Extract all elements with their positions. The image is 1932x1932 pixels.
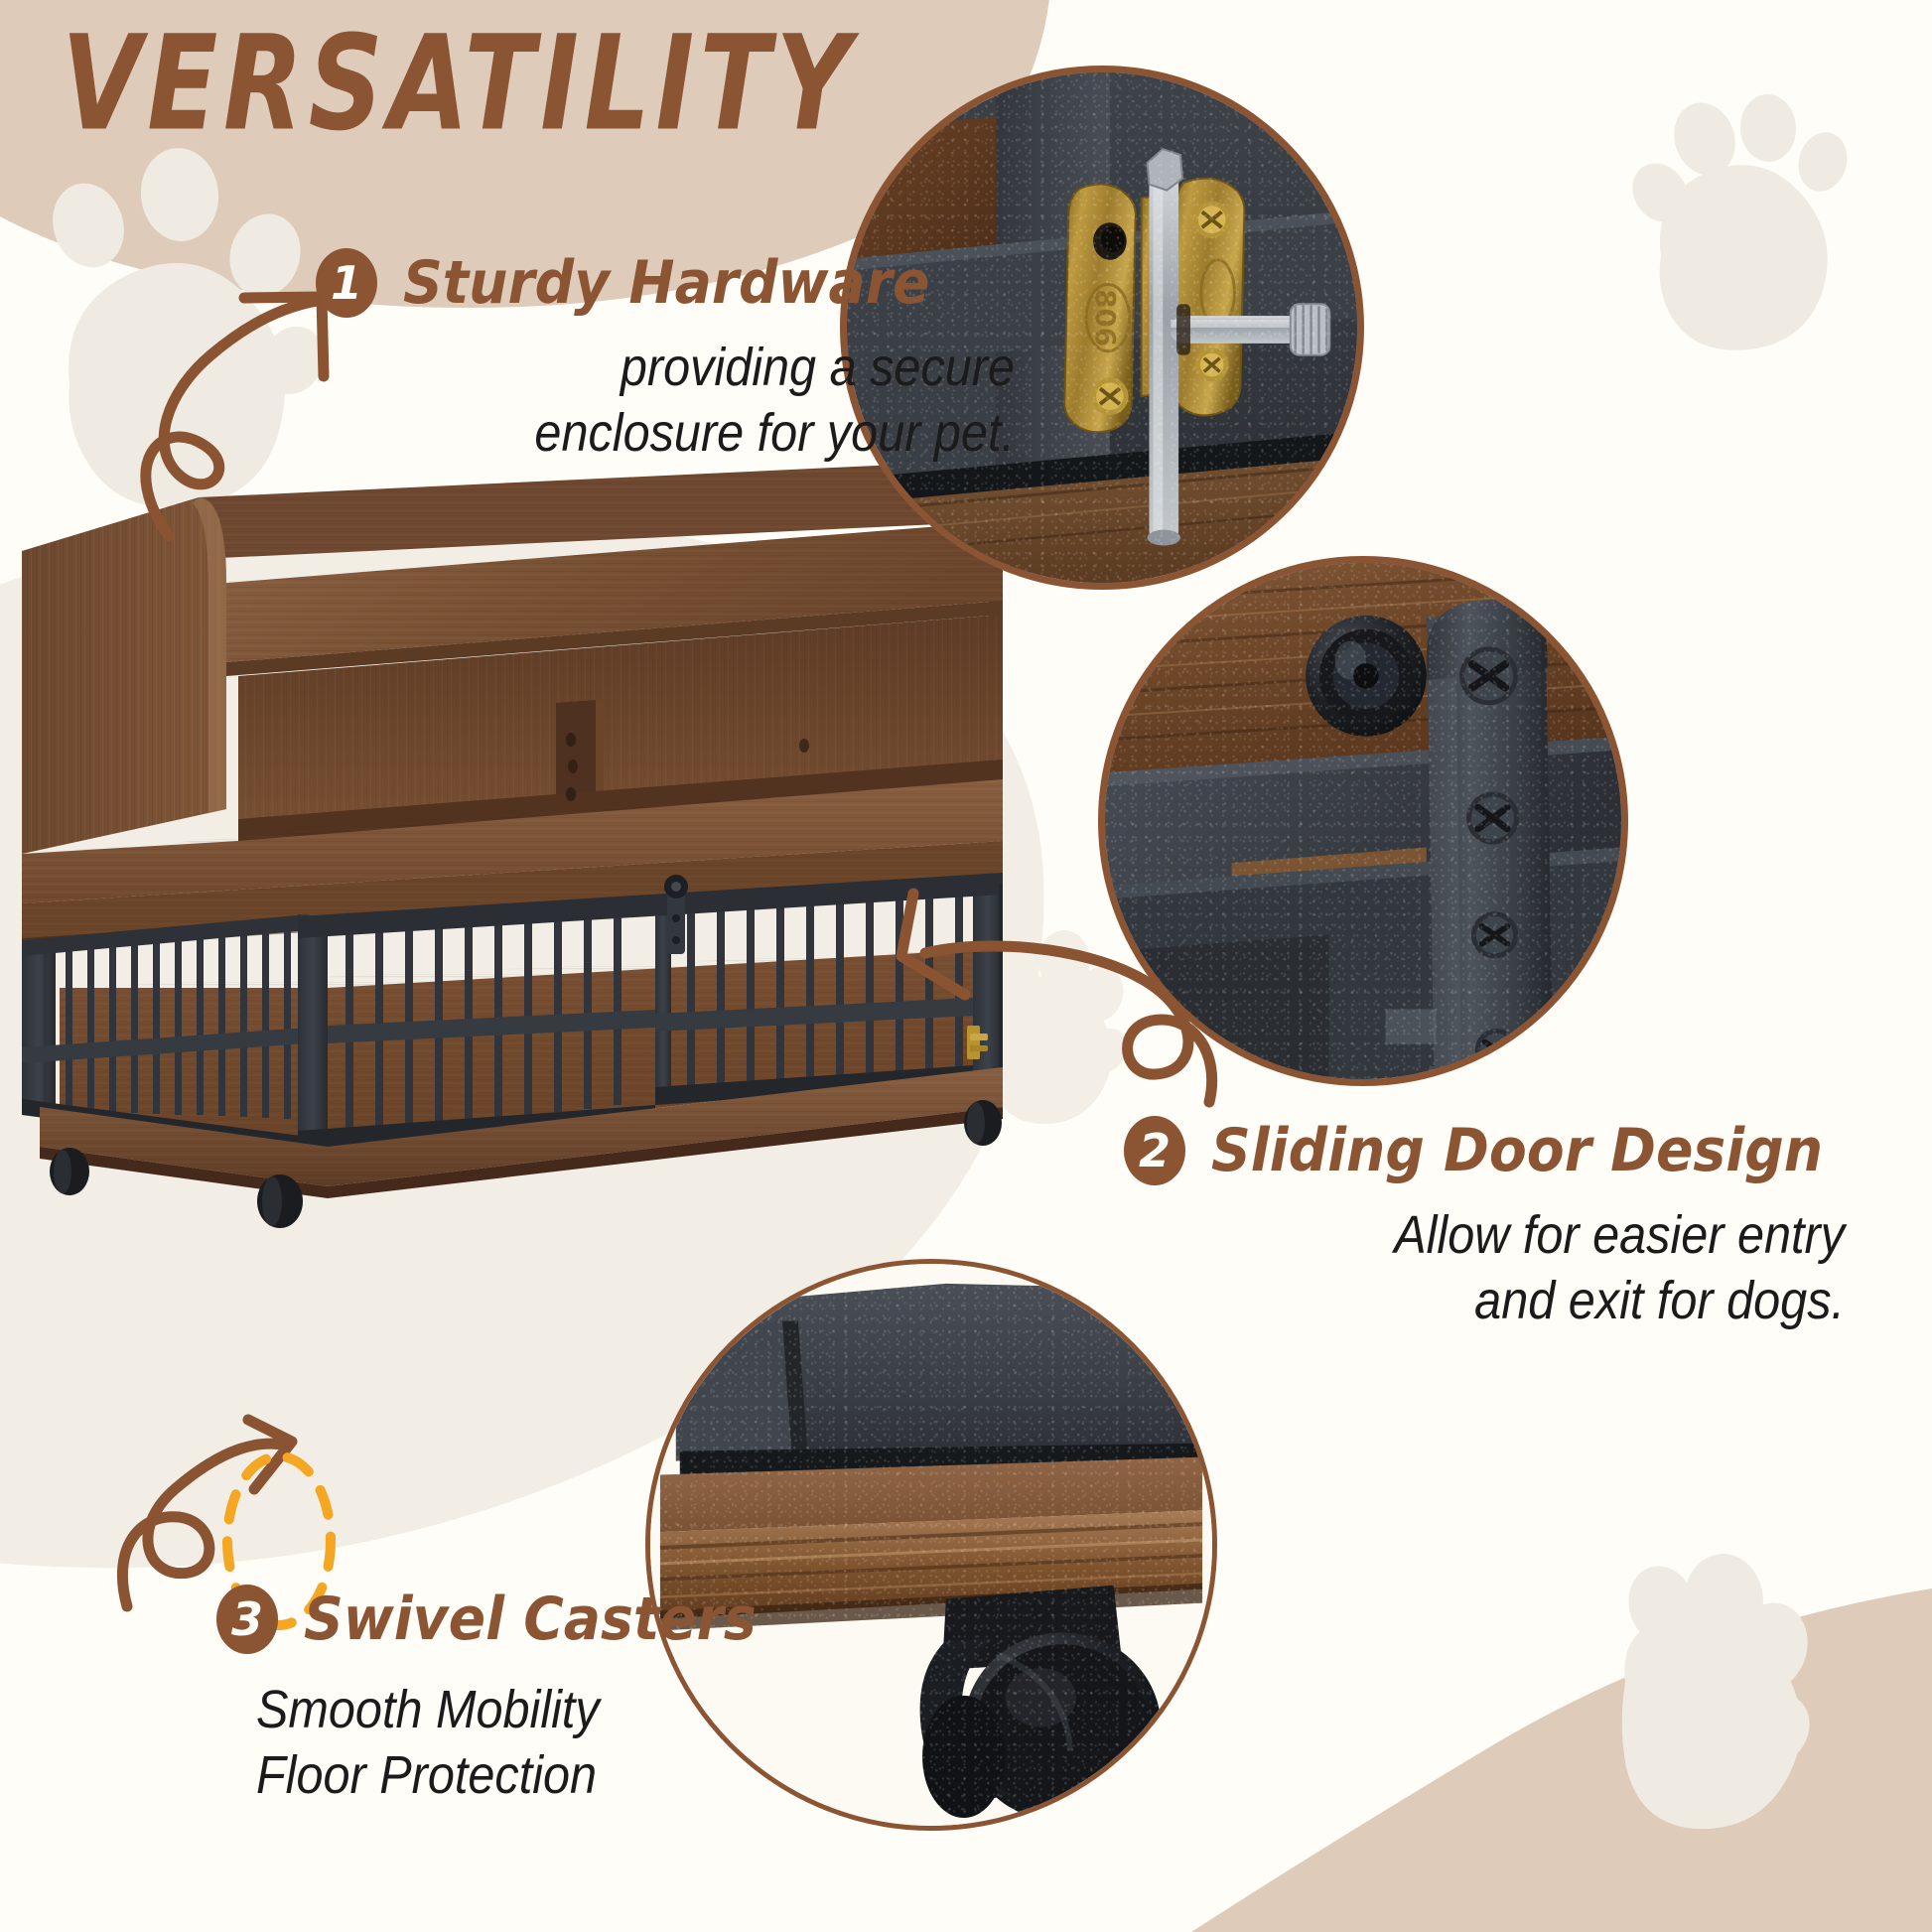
feature-3-number-badge: 3 [216, 1585, 278, 1654]
page-title: VERSATILITY [62, 8, 856, 160]
feature-block-2: 2 Sliding Door Design Allow for easier e… [1124, 1116, 1876, 1334]
feature-1-body: providing a secure enclosure for your pe… [371, 336, 1015, 467]
detail-photo-sliding-door [1098, 556, 1628, 1086]
callout-arrow-icon [146, 297, 324, 536]
feature-2-body-line-2: and exit for dogs. [1183, 1269, 1845, 1334]
feature-1-heading: 1 Sturdy Hardware [316, 248, 1015, 318]
infographic-canvas: 806 [0, 0, 1932, 1932]
feature-1-body-line-2: enclosure for your pet. [371, 401, 1015, 467]
feature-1-title: Sturdy Hardware [403, 248, 929, 318]
feature-1-body-line-1: providing a secure [371, 336, 1015, 401]
feature-block-1: 1 Sturdy Hardware providing a secure enc… [316, 248, 1015, 467]
callout-arrow-icon [122, 1420, 292, 1606]
svg-text:806: 806 [1089, 289, 1122, 346]
feature-2-body-line-1: Allow for easier entry [1183, 1203, 1845, 1269]
feature-block-3: 3 Swivel Casters Smooth Mobility Floor P… [216, 1585, 872, 1809]
feature-3-body-line-1: Smooth Mobility [256, 1678, 810, 1743]
feature-2-title: Sliding Door Design [1211, 1116, 1823, 1185]
feature-1-number-badge: 1 [316, 248, 377, 318]
feature-3-body-line-2: Floor Protection [256, 1743, 810, 1809]
feature-3-title: Swivel Casters [304, 1585, 757, 1654]
feature-2-number-badge: 2 [1124, 1116, 1185, 1185]
feature-3-body: Smooth Mobility Floor Protection [256, 1678, 810, 1809]
feature-2-body: Allow for easier entry and exit for dogs… [1183, 1203, 1845, 1334]
feature-3-heading: 3 Swivel Casters [216, 1585, 872, 1654]
feature-2-heading: 2 Sliding Door Design [1124, 1116, 1876, 1185]
